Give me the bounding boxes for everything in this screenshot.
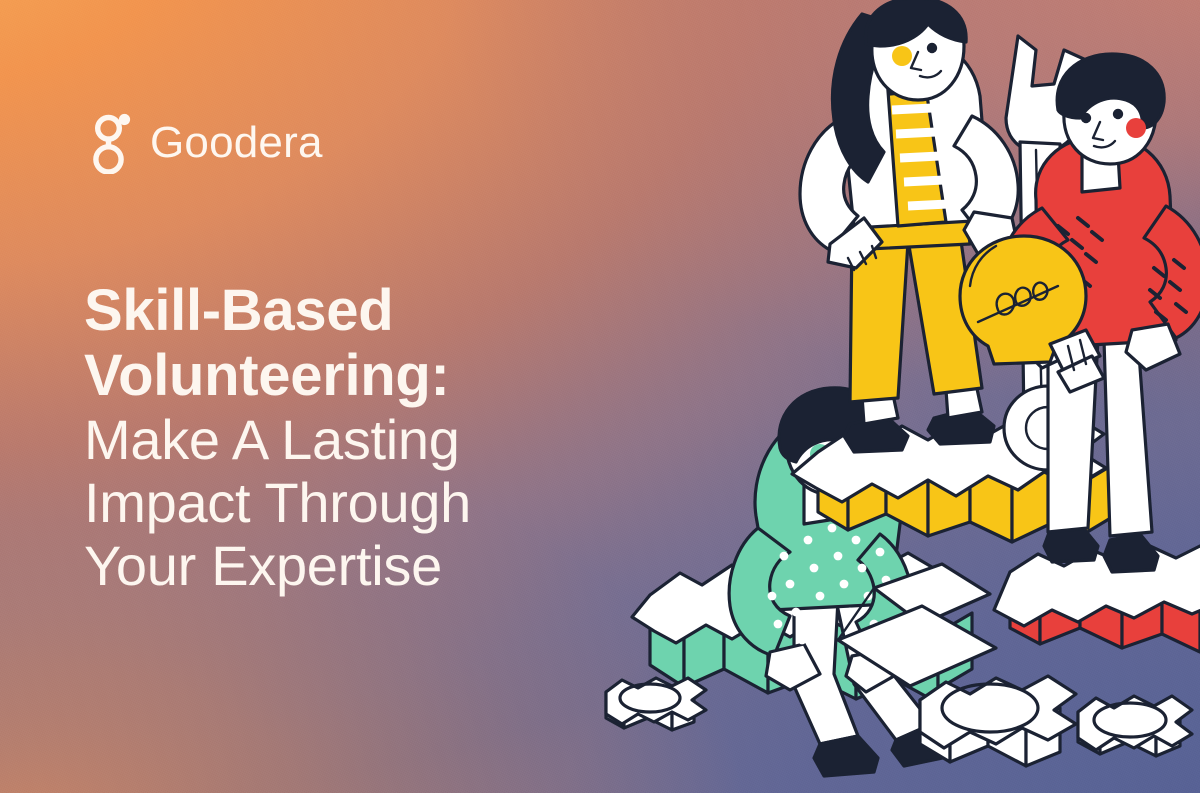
promotional-banner: Goodera Skill-Based Volunteering: Make A… [0,0,1200,793]
headline-line-1: Skill-Based [84,279,704,344]
brand-logo[interactable]: Goodera [88,112,323,174]
headline: Skill-Based Volunteering: Make A Lasting… [84,279,704,597]
goodera-g-mark-icon [88,112,132,174]
headline-line-2: Volunteering: [84,344,704,409]
headline-line-4: Impact Through [84,472,704,535]
headline-line-5: Your Expertise [84,535,704,598]
headline-line-3: Make A Lasting [84,409,704,472]
brand-logo-text: Goodera [150,121,323,165]
